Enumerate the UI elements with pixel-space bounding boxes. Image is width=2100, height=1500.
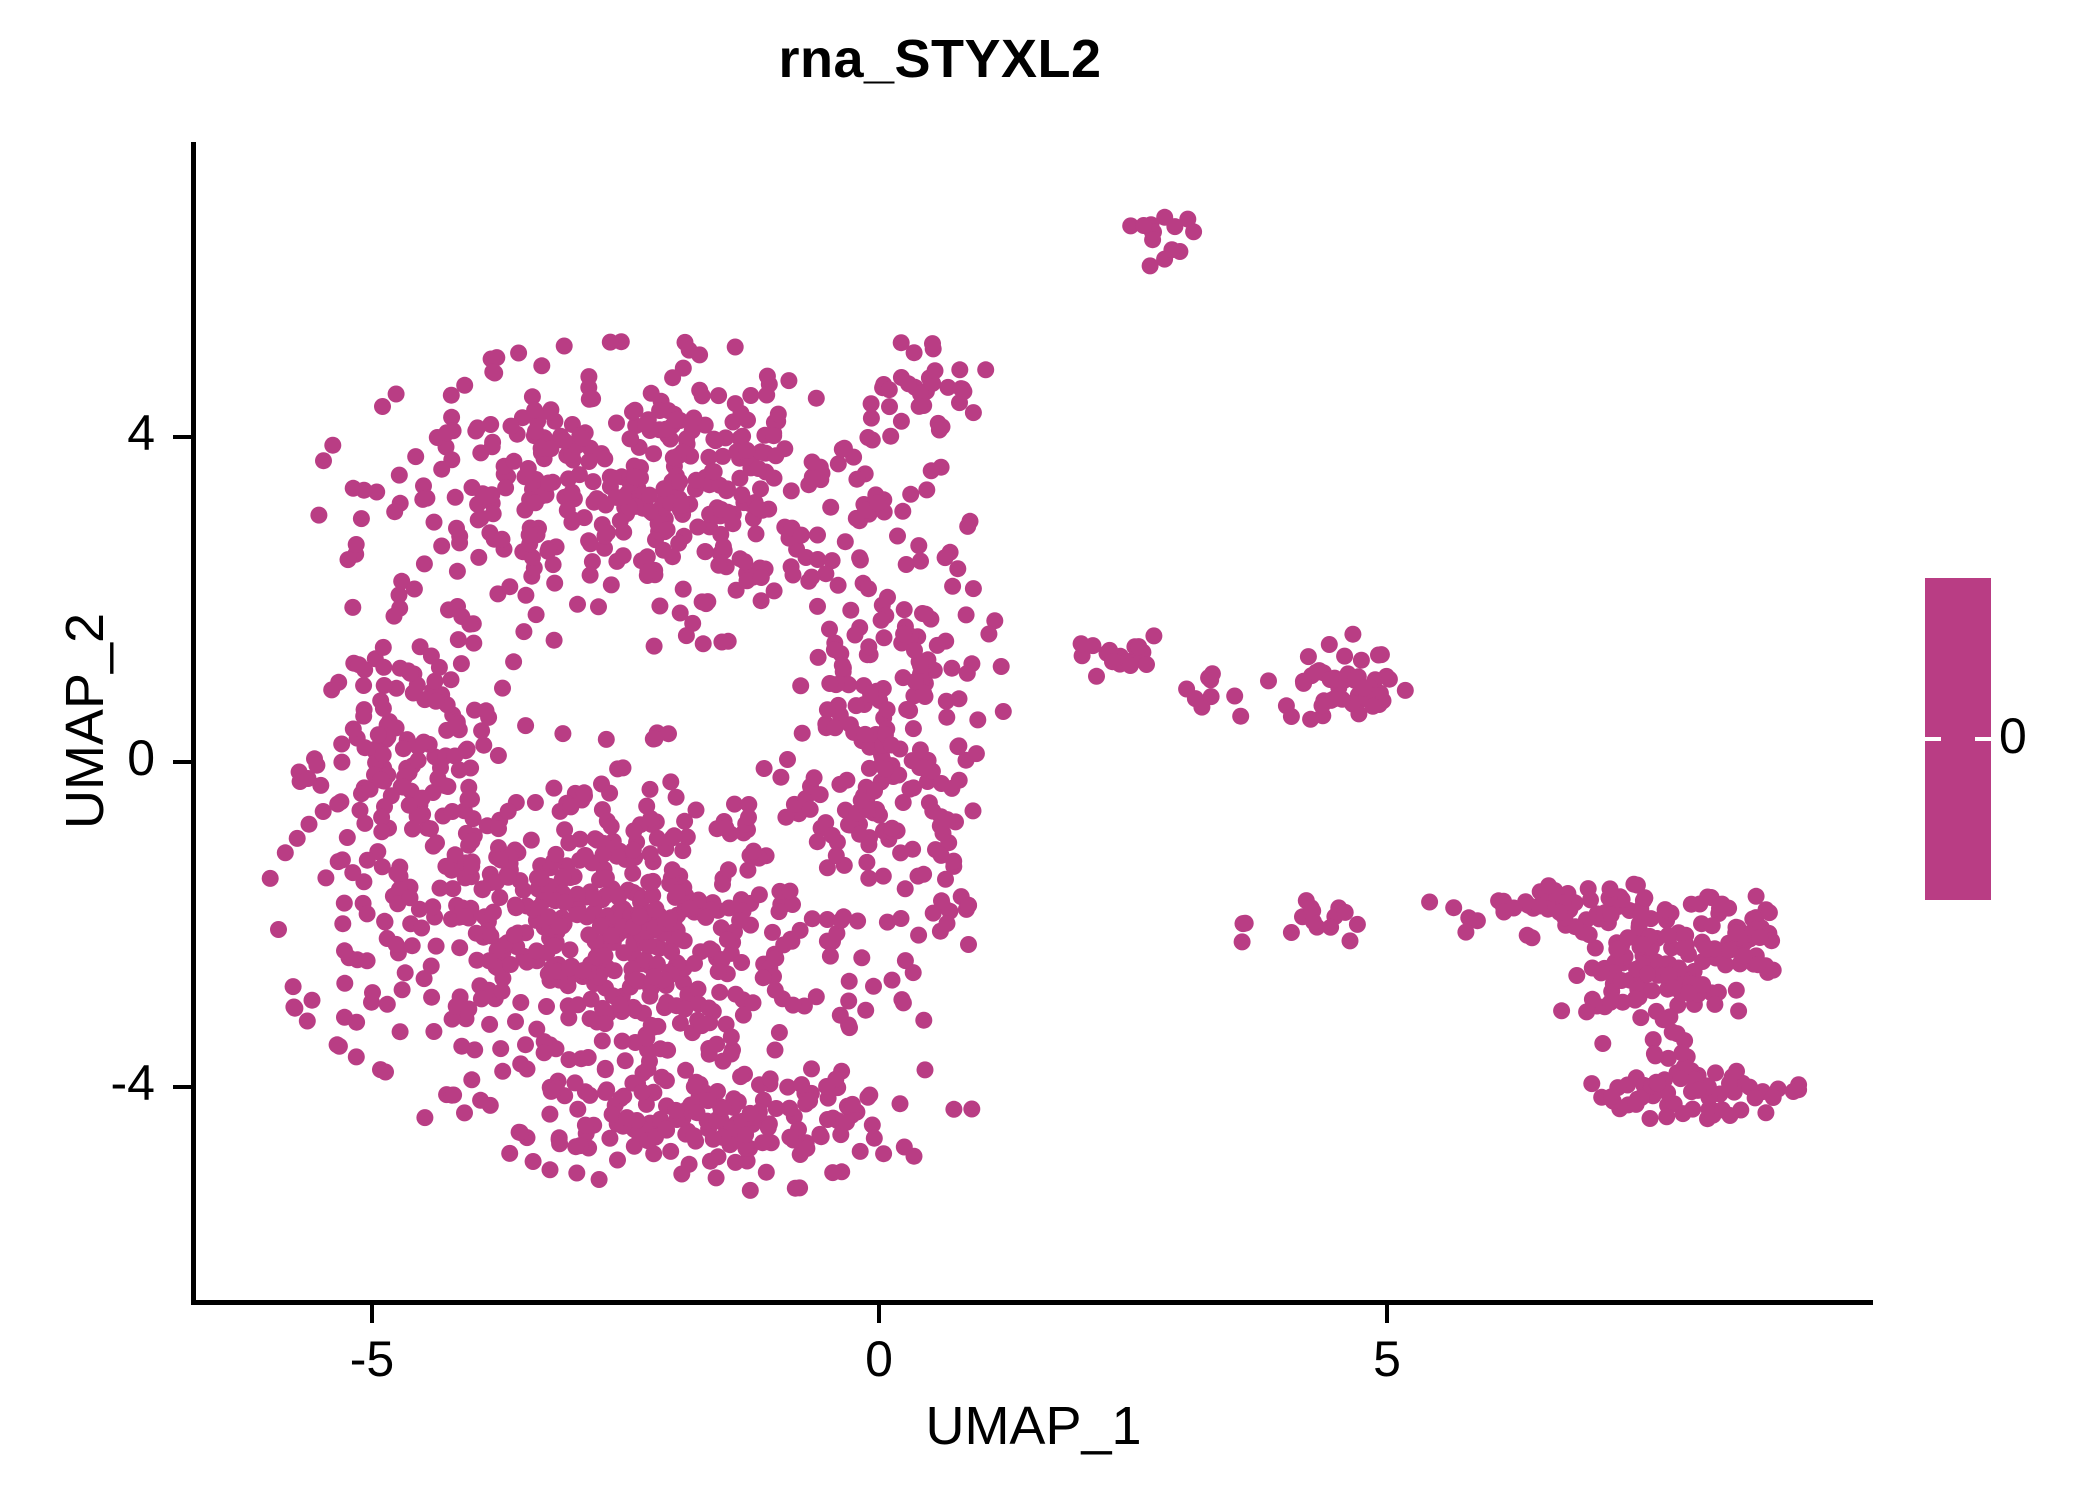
scatter-point bbox=[1321, 636, 1338, 653]
scatter-point bbox=[715, 1100, 732, 1117]
scatter-point bbox=[671, 473, 688, 490]
scatter-point bbox=[443, 1087, 460, 1104]
scatter-point bbox=[556, 489, 573, 506]
scatter-point bbox=[419, 820, 436, 837]
scatter-point bbox=[437, 858, 454, 875]
scatter-point bbox=[710, 963, 727, 980]
scatter-point bbox=[479, 817, 496, 834]
scatter-point bbox=[1596, 960, 1613, 977]
scatter-point bbox=[1283, 708, 1300, 725]
scatter-point bbox=[511, 1124, 528, 1141]
scatter-point bbox=[963, 655, 980, 672]
scatter-point bbox=[554, 871, 571, 888]
scatter-point bbox=[865, 978, 882, 995]
scatter-point bbox=[345, 721, 362, 738]
scatter-point bbox=[907, 379, 924, 396]
scatter-point bbox=[749, 499, 766, 516]
scatter-point bbox=[578, 1125, 595, 1142]
scatter-point bbox=[463, 791, 480, 808]
scatter-point bbox=[379, 729, 396, 746]
scatter-point bbox=[633, 552, 650, 569]
scatter-point bbox=[898, 701, 915, 718]
scatter-point bbox=[704, 895, 721, 912]
scatter-point bbox=[1646, 1045, 1663, 1062]
scatter-point bbox=[784, 896, 801, 913]
scatter-point bbox=[483, 351, 500, 368]
scatter-point bbox=[1593, 1089, 1610, 1106]
scatter-point bbox=[540, 908, 557, 925]
scatter-point bbox=[1659, 1097, 1676, 1114]
scatter-point bbox=[392, 1023, 409, 1040]
scatter-point bbox=[912, 741, 929, 758]
scatter-point bbox=[793, 527, 810, 544]
scatter-point bbox=[393, 573, 410, 590]
scatter-point bbox=[628, 910, 645, 927]
scatter-point bbox=[1722, 1079, 1739, 1096]
scatter-point bbox=[1202, 671, 1219, 688]
scatter-point bbox=[628, 494, 645, 511]
scatter-point bbox=[1601, 890, 1618, 907]
scatter-point bbox=[1642, 1110, 1659, 1127]
scatter-point bbox=[849, 913, 866, 930]
scatter-point bbox=[484, 363, 501, 380]
scatter-point bbox=[710, 557, 727, 574]
scatter-point bbox=[875, 491, 892, 508]
scatter-point bbox=[353, 510, 370, 527]
scatter-point bbox=[308, 757, 325, 774]
scatter-point bbox=[362, 781, 379, 798]
scatter-point bbox=[697, 469, 714, 486]
scatter-point bbox=[705, 1131, 722, 1148]
scatter-point bbox=[676, 960, 693, 977]
scatter-point bbox=[608, 415, 625, 432]
scatter-point bbox=[1690, 1067, 1707, 1084]
scatter-point bbox=[1145, 627, 1162, 644]
scatter-point bbox=[751, 886, 768, 903]
scatter-point bbox=[727, 395, 744, 412]
scatter-point bbox=[897, 618, 914, 635]
scatter-point bbox=[725, 1090, 742, 1107]
scatter-point bbox=[643, 1017, 660, 1034]
scatter-point bbox=[783, 933, 800, 950]
scatter-point bbox=[780, 372, 797, 389]
scatter-point bbox=[397, 964, 414, 981]
scatter-point bbox=[678, 887, 695, 904]
scatter-point bbox=[1745, 956, 1762, 973]
scatter-point bbox=[558, 447, 575, 464]
scatter-point bbox=[651, 598, 668, 615]
scatter-point bbox=[603, 927, 620, 944]
scatter-point bbox=[771, 883, 788, 900]
scatter-point bbox=[373, 809, 390, 826]
scatter-point bbox=[627, 417, 644, 434]
scatter-point bbox=[443, 862, 460, 879]
scatter-point bbox=[713, 501, 730, 518]
scatter-point bbox=[665, 449, 682, 466]
scatter-point bbox=[855, 496, 872, 513]
scatter-point bbox=[521, 536, 538, 553]
scatter-point bbox=[615, 1118, 632, 1135]
scatter-point bbox=[744, 1109, 761, 1126]
scatter-point bbox=[832, 1126, 849, 1143]
scatter-point bbox=[875, 680, 892, 697]
scatter-point bbox=[506, 926, 523, 943]
scatter-point bbox=[642, 1115, 659, 1132]
scatter-point bbox=[418, 490, 435, 507]
scatter-point bbox=[426, 748, 443, 765]
scatter-point bbox=[642, 979, 659, 996]
scatter-point bbox=[701, 1014, 718, 1031]
y-axis-line bbox=[191, 142, 196, 1305]
scatter-point bbox=[771, 903, 788, 920]
scatter-point bbox=[857, 726, 874, 743]
scatter-point bbox=[571, 852, 588, 869]
scatter-point bbox=[566, 490, 583, 507]
scatter-point bbox=[1625, 876, 1642, 893]
scatter-point bbox=[704, 894, 721, 911]
scatter-point bbox=[576, 787, 593, 804]
scatter-point bbox=[818, 719, 835, 736]
scatter-point bbox=[1686, 996, 1703, 1013]
scatter-point bbox=[655, 542, 672, 559]
scatter-point bbox=[615, 759, 632, 776]
scatter-point bbox=[403, 783, 420, 800]
scatter-point bbox=[1635, 947, 1652, 964]
scatter-point bbox=[1294, 908, 1311, 925]
scatter-point bbox=[546, 937, 563, 954]
scatter-point bbox=[783, 558, 800, 575]
scatter-point bbox=[775, 936, 792, 953]
scatter-point bbox=[528, 606, 545, 623]
scatter-point bbox=[644, 973, 661, 990]
scatter-point bbox=[1580, 880, 1597, 897]
scatter-point bbox=[871, 807, 888, 824]
scatter-point bbox=[649, 1018, 666, 1035]
scatter-point bbox=[701, 1046, 718, 1063]
scatter-point bbox=[863, 410, 880, 427]
scatter-point bbox=[501, 848, 518, 865]
scatter-point bbox=[1720, 900, 1737, 917]
scatter-point bbox=[367, 754, 384, 771]
scatter-point bbox=[550, 956, 567, 973]
scatter-point bbox=[1652, 958, 1669, 975]
scatter-point bbox=[728, 443, 745, 460]
scatter-point bbox=[426, 673, 443, 690]
scatter-point bbox=[1104, 653, 1121, 670]
scatter-point bbox=[515, 948, 532, 965]
scatter-point bbox=[551, 918, 568, 935]
scatter-point bbox=[761, 1075, 778, 1092]
scatter-point bbox=[619, 485, 636, 502]
scatter-point bbox=[740, 796, 757, 813]
scatter-point bbox=[614, 905, 631, 922]
scatter-point bbox=[540, 540, 557, 557]
scatter-point bbox=[536, 450, 553, 467]
scatter-point bbox=[580, 1049, 597, 1066]
scatter-point bbox=[905, 687, 922, 704]
scatter-point bbox=[482, 416, 499, 433]
scatter-point bbox=[902, 486, 919, 503]
scatter-point bbox=[555, 964, 572, 981]
scatter-point bbox=[1605, 975, 1622, 992]
scatter-point bbox=[562, 798, 579, 815]
scatter-point bbox=[838, 772, 855, 789]
scatter-point bbox=[615, 900, 632, 917]
scatter-point bbox=[861, 739, 878, 756]
scatter-point bbox=[450, 631, 467, 648]
scatter-point bbox=[484, 438, 501, 455]
scatter-point bbox=[1283, 924, 1300, 941]
scatter-point bbox=[705, 1003, 722, 1020]
scatter-point bbox=[663, 870, 680, 887]
scatter-point bbox=[467, 423, 484, 440]
scatter-point bbox=[526, 402, 543, 419]
scatter-point bbox=[747, 1109, 764, 1126]
scatter-point bbox=[604, 880, 621, 897]
legend-colorbar[interactable] bbox=[1925, 578, 1991, 900]
scatter-point bbox=[867, 486, 884, 503]
scatter-point bbox=[333, 754, 350, 771]
scatter-point bbox=[980, 626, 997, 643]
scatter-point bbox=[901, 702, 918, 719]
scatter-point bbox=[563, 958, 580, 975]
scatter-point bbox=[548, 1040, 565, 1057]
scatter-point bbox=[1686, 1079, 1703, 1096]
scatter-point bbox=[1490, 892, 1507, 909]
scatter-point bbox=[817, 715, 834, 732]
scatter-point bbox=[576, 847, 593, 864]
scatter-point bbox=[993, 658, 1010, 675]
scatter-point bbox=[808, 988, 825, 1005]
scatter-point bbox=[437, 747, 454, 764]
scatter-point bbox=[701, 476, 718, 493]
scatter-point bbox=[1633, 982, 1650, 999]
scatter-point bbox=[873, 746, 890, 763]
scatter-point bbox=[893, 991, 910, 1008]
scatter-point bbox=[676, 813, 693, 830]
scatter-point bbox=[724, 1042, 741, 1059]
scatter-point bbox=[1536, 890, 1553, 907]
scatter-point bbox=[1234, 933, 1251, 950]
scatter-point bbox=[367, 743, 384, 760]
scatter-point bbox=[863, 395, 880, 412]
scatter-point bbox=[469, 419, 486, 436]
scatter-point bbox=[686, 904, 703, 921]
scatter-point bbox=[858, 854, 875, 871]
scatter-point bbox=[848, 1104, 865, 1121]
scatter-point bbox=[1704, 917, 1721, 934]
scatter-point bbox=[374, 398, 391, 415]
scatter-point bbox=[812, 471, 829, 488]
scatter-point bbox=[813, 1128, 830, 1145]
scatter-point bbox=[725, 1099, 742, 1116]
scatter-point bbox=[548, 934, 565, 951]
scatter-point bbox=[688, 1074, 705, 1091]
scatter-point bbox=[1745, 924, 1762, 941]
scatter-point bbox=[610, 912, 627, 929]
scatter-point bbox=[598, 839, 615, 856]
scatter-point bbox=[566, 897, 583, 914]
scatter-point bbox=[1540, 901, 1557, 918]
scatter-point bbox=[785, 567, 802, 584]
scatter-point bbox=[540, 965, 557, 982]
scatter-point bbox=[1649, 930, 1666, 947]
scatter-point bbox=[458, 1010, 475, 1027]
scatter-point bbox=[786, 796, 803, 813]
scatter-point bbox=[499, 934, 516, 951]
scatter-point bbox=[733, 405, 750, 422]
scatter-point bbox=[1495, 893, 1512, 910]
scatter-point bbox=[473, 990, 490, 1007]
scatter-point bbox=[855, 677, 872, 694]
scatter-point bbox=[833, 1163, 850, 1180]
scatter-point bbox=[600, 1005, 617, 1022]
scatter-point bbox=[597, 1084, 614, 1101]
scatter-point bbox=[1156, 251, 1173, 268]
scatter-point bbox=[348, 536, 365, 553]
scatter-point bbox=[804, 910, 821, 927]
scatter-point bbox=[1531, 898, 1548, 915]
scatter-point bbox=[570, 996, 587, 1013]
scatter-point bbox=[1367, 687, 1384, 704]
scatter-point bbox=[712, 526, 729, 543]
scatter-point bbox=[593, 776, 610, 793]
scatter-point bbox=[626, 469, 643, 486]
scatter-point bbox=[542, 1079, 559, 1096]
scatter-point bbox=[829, 1112, 846, 1129]
scatter-point bbox=[900, 375, 917, 392]
scatter-point bbox=[723, 1121, 740, 1138]
scatter-point bbox=[615, 1088, 632, 1105]
scatter-point bbox=[933, 808, 950, 825]
scatter-point bbox=[324, 437, 341, 454]
scatter-point bbox=[1144, 223, 1161, 240]
scatter-point bbox=[731, 912, 748, 929]
scatter-point bbox=[1649, 1075, 1666, 1092]
scatter-point bbox=[1193, 699, 1210, 716]
scatter-point bbox=[1666, 1095, 1683, 1112]
scatter-point bbox=[774, 990, 791, 1007]
scatter-point bbox=[740, 809, 757, 826]
scatter-point bbox=[617, 904, 634, 921]
scatter-point bbox=[444, 880, 461, 897]
scatter-point bbox=[1326, 690, 1343, 707]
scatter-point bbox=[720, 504, 737, 521]
scatter-point bbox=[645, 1084, 662, 1101]
scatter-point bbox=[542, 972, 559, 989]
scatter-point bbox=[725, 414, 742, 431]
scatter-point bbox=[736, 1066, 753, 1083]
scatter-point bbox=[541, 878, 558, 895]
scatter-point bbox=[1457, 924, 1474, 941]
scatter-point bbox=[707, 432, 724, 449]
scatter-point bbox=[454, 900, 471, 917]
scatter-point bbox=[391, 859, 408, 876]
scatter-point bbox=[456, 802, 473, 819]
scatter-point bbox=[475, 927, 492, 944]
scatter-point bbox=[855, 575, 872, 592]
scatter-point bbox=[917, 1061, 934, 1078]
scatter-point bbox=[944, 578, 961, 595]
scatter-point bbox=[560, 1009, 577, 1026]
scatter-point bbox=[701, 518, 718, 535]
scatter-point bbox=[995, 703, 1012, 720]
scatter-point bbox=[834, 657, 851, 674]
scatter-point bbox=[662, 963, 679, 980]
scatter-point bbox=[628, 914, 645, 931]
scatter-point bbox=[628, 834, 645, 851]
scatter-point bbox=[935, 825, 952, 842]
scatter-point bbox=[742, 895, 759, 912]
scatter-point bbox=[878, 721, 895, 738]
scatter-point bbox=[607, 1097, 624, 1114]
colorbar-tick-right bbox=[1975, 737, 1991, 741]
scatter-point bbox=[499, 468, 516, 485]
scatter-point bbox=[588, 949, 605, 966]
scatter-point bbox=[596, 450, 613, 467]
scatter-point bbox=[412, 638, 429, 655]
scatter-point bbox=[915, 866, 932, 883]
scatter-point bbox=[713, 1112, 730, 1129]
scatter-point bbox=[696, 896, 713, 913]
scatter-point bbox=[291, 764, 308, 781]
scatter-point bbox=[905, 779, 922, 796]
scatter-point bbox=[627, 930, 644, 947]
scatter-point bbox=[668, 411, 685, 428]
scatter-point bbox=[1584, 960, 1601, 977]
scatter-point bbox=[628, 1002, 645, 1019]
scatter-point bbox=[1554, 906, 1571, 923]
scatter-point bbox=[380, 820, 397, 837]
scatter-point bbox=[356, 482, 373, 499]
scatter-point bbox=[751, 1103, 768, 1120]
scatter-point bbox=[601, 785, 618, 802]
scatter-point bbox=[487, 958, 504, 975]
scatter-point bbox=[859, 790, 876, 807]
scatter-point bbox=[355, 873, 372, 890]
scatter-point bbox=[1660, 1050, 1677, 1067]
scatter-point bbox=[1073, 635, 1090, 652]
scatter-point bbox=[812, 786, 829, 803]
scatter-point bbox=[445, 854, 462, 871]
scatter-point bbox=[671, 867, 688, 884]
scatter-point bbox=[1686, 963, 1703, 980]
scatter-point bbox=[939, 811, 956, 828]
scatter-point bbox=[459, 741, 476, 758]
scatter-point bbox=[1636, 890, 1653, 907]
scatter-point bbox=[675, 581, 692, 598]
scatter-point bbox=[610, 903, 627, 920]
scatter-point bbox=[1622, 972, 1639, 989]
scatter-point bbox=[723, 1046, 740, 1063]
scatter-point bbox=[759, 368, 776, 385]
scatter-point bbox=[762, 1070, 779, 1087]
scatter-point bbox=[618, 505, 635, 522]
scatter-point bbox=[588, 490, 605, 507]
scatter-point bbox=[595, 961, 612, 978]
scatter-point bbox=[639, 1132, 656, 1149]
scatter-point bbox=[678, 627, 695, 644]
scatter-point bbox=[642, 781, 659, 798]
scatter-point bbox=[876, 629, 893, 646]
scatter-point bbox=[728, 1115, 745, 1132]
scatter-point bbox=[556, 338, 573, 355]
scatter-point bbox=[1663, 939, 1680, 956]
scatter-point bbox=[605, 934, 622, 951]
scatter-point bbox=[640, 938, 657, 955]
scatter-point bbox=[1722, 1107, 1739, 1124]
scatter-point bbox=[843, 1107, 860, 1124]
